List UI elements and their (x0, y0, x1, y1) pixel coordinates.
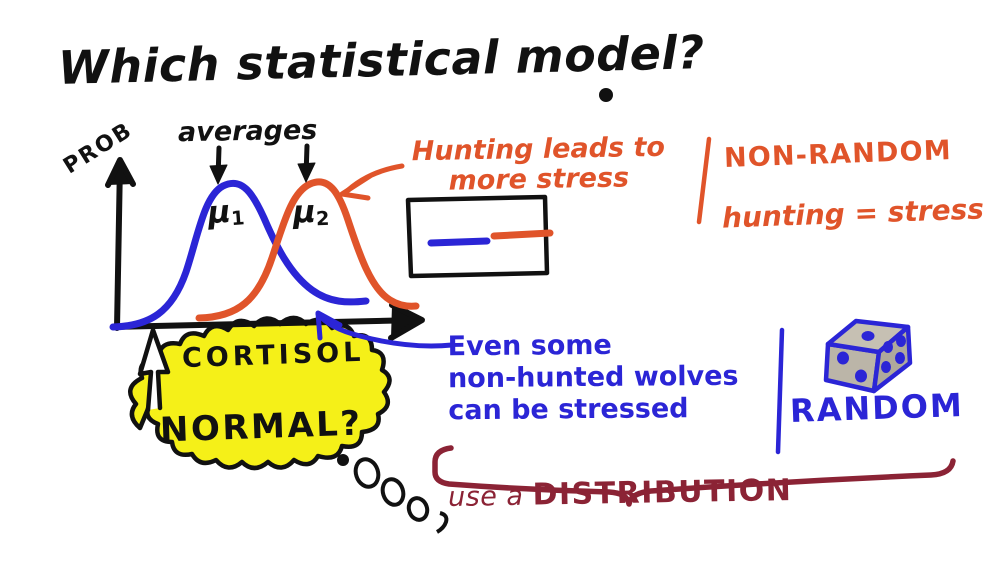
mu2-label: μ2 (292, 195, 329, 230)
normal-question-label: NORMAL? (159, 406, 363, 449)
mu2-symbol: μ (292, 194, 316, 231)
legend-key-pop1: 1 (437, 247, 459, 280)
mu1-subscript: 1 (230, 206, 245, 230)
even-some-note: Even somenon-hunted wolvescan be stresse… (448, 329, 739, 427)
random-label: RANDOM (789, 389, 964, 429)
even-some-line2: non-hunted wolves (448, 361, 739, 395)
averages-label: averages (178, 117, 318, 148)
even-some-line1: Even some (448, 330, 612, 362)
even-some-line3: can be stressed (448, 393, 689, 426)
whiteboard-canvas: Which statistical model? PROB CORTISOL a… (0, 0, 1000, 563)
legend-title: POP (448, 202, 518, 232)
hunting-note: Hunting leads tomore stress (411, 133, 665, 198)
mu2-subscript: 2 (316, 207, 330, 230)
legend-key-pop2: 2 (499, 241, 521, 273)
x-axis-label: CORTISOL (182, 339, 365, 374)
mu1-label: μ1 (207, 195, 245, 231)
hunting-note-line2: more stress (448, 163, 629, 197)
mu1-symbol: μ (207, 194, 232, 232)
conclusion-prefix: use a (448, 481, 533, 513)
conclusion-main: DISTRIBUTION (532, 473, 792, 513)
conclusion-note: use a DISTRIBUTION (448, 475, 793, 513)
